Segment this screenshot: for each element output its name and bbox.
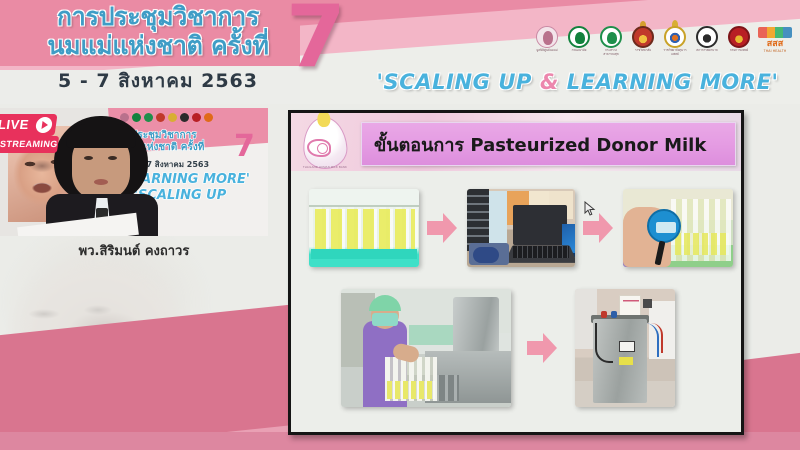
red-gold-emblem-icon: กรมการแพทย์ <box>726 26 752 56</box>
conference-date: 5 - 7 สิงหาคม 2563 <box>20 66 296 96</box>
process-flow-row-top <box>305 185 735 271</box>
live-streaming-badge: LIVE STREAMING <box>0 114 56 156</box>
flow-arrow-icon <box>427 213 459 243</box>
red-royal-emblem-icon: ราชวิทยาลัย <box>630 26 656 56</box>
slide-content-panel: THAILAND HUMAN MILK BANK ขั้นตอนการ Past… <box>288 110 744 435</box>
presentation-slide-screen: การประชุมวิชาการ นมแม่แห่งชาติ ครั้งที่ … <box>0 0 800 450</box>
flow-arrow-icon <box>527 333 559 363</box>
thaihealth-logo-icon: สสส THAI HEALTH <box>758 26 792 56</box>
speaker-video-panel[interactable]: การประชุมวิชาการ นมแม่แห่งชาติ ครั้งที่ … <box>0 108 268 236</box>
green-health-emblem-1-icon: กรมอนามัย <box>566 26 592 56</box>
sponsor-logo-strip: มูลนิธิศูนย์นมแม่ กรมอนามัย กระทรวงสาธาร… <box>534 26 792 56</box>
photo-hand-holding-timer <box>623 189 733 267</box>
live-label: LIVE <box>0 114 58 136</box>
play-icon <box>35 117 53 133</box>
black-white-emblem-icon: สภาการพยาบาล <box>694 26 720 56</box>
conference-thai-title-line2: นมแม่แห่งชาติ ครั้งที่ <box>20 31 296 60</box>
conference-thai-title: การประชุมวิชาการ นมแม่แห่งชาติ ครั้งที่ <box>20 2 296 60</box>
tagline-ampersand: & <box>540 70 559 94</box>
conference-header-banner: การประชุมวิชาการ นมแม่แห่งชาติ ครั้งที่ … <box>0 0 800 104</box>
conference-edition-number: 7 <box>286 0 346 80</box>
flow-arrow-icon <box>583 213 615 243</box>
slide-title: ขั้นตอนการ Pasteurized Donor Milk <box>361 122 736 166</box>
speaker-mouth <box>94 179 108 185</box>
logo-caption: THAILAND HUMAN MILK BANK <box>295 165 355 169</box>
conference-thai-title-line1: การประชุมวิชาการ <box>20 2 296 31</box>
speaker-eye-right <box>108 156 117 160</box>
photo-milk-bottles-rack <box>309 189 419 267</box>
process-flow-row-bottom <box>337 283 737 413</box>
conference-tagline: 'SCALING UP & LEARNING MORE' <box>360 70 795 94</box>
tagline-suffix: LEARNING MORE' <box>559 70 779 94</box>
speaker-fringe <box>66 124 136 148</box>
speaker-eye-left <box>84 156 93 160</box>
mouse-pointer-icon <box>584 201 596 217</box>
tagline-prefix: 'SCALING UP <box>376 70 540 94</box>
green-health-emblem-2-icon: กระทรวงสาธารณสุข <box>598 26 624 56</box>
baby-outline-icon <box>317 143 328 154</box>
photo-laptop-workstation <box>467 189 575 267</box>
speaker-name-caption: พว.สิริมนต์ คงถาวร <box>0 240 268 261</box>
streaming-label: STREAMING <box>0 136 59 153</box>
poster-edition-number: 7 <box>234 132 255 162</box>
multicolor-royal-emblem-icon: ราชวิทยาลัยกุมารแพทย์ <box>662 26 688 56</box>
human-milk-bank-logo: THAILAND HUMAN MILK BANK <box>297 117 353 175</box>
photo-nurse-loading-bottles <box>341 289 511 407</box>
royal-patronage-emblem-icon: มูลนิธิศูนย์นมแม่ <box>534 26 560 56</box>
photo-pasteurizer-machine <box>575 289 675 407</box>
